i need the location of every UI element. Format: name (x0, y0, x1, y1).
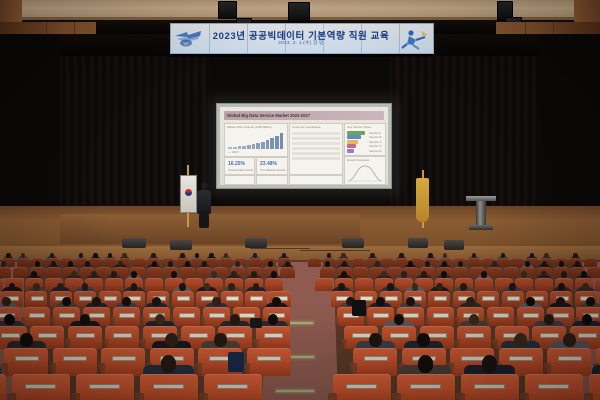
slide-bar-axis: — 2023 (228, 150, 258, 154)
presenter-body (197, 190, 211, 214)
seat-number-plate (523, 313, 539, 318)
stage-monitor-2 (170, 240, 192, 250)
seat-number-plate (1, 333, 20, 338)
attendee-head (369, 333, 382, 347)
attendee-head (575, 261, 580, 267)
seat-number-plate (364, 356, 388, 361)
eagle-emblem-icon: KR (173, 27, 203, 49)
attendee-head (6, 253, 10, 258)
seat-number-plate (63, 356, 87, 361)
stage-curtain-right (390, 56, 540, 231)
presenter-legs (199, 212, 209, 228)
attendee-head (342, 261, 347, 267)
seat-number-plate (346, 384, 377, 389)
seat-number-plate (29, 313, 45, 318)
attendee-head (253, 253, 257, 258)
seat-number-plate (153, 384, 184, 389)
attendee-head (412, 283, 419, 291)
seat-armrest (199, 393, 208, 400)
attendee-head (425, 261, 430, 267)
slide-bar (256, 143, 260, 149)
attendee-head (122, 297, 130, 307)
auditorium-seat[interactable] (17, 258, 30, 267)
attendee-head (501, 253, 505, 258)
seat-number-plate (410, 384, 441, 389)
attendee-head (387, 283, 394, 291)
slide-title: Global Big Data Service Market 2023-2027 (224, 111, 384, 120)
attendee-head (151, 253, 155, 258)
slide-bar (261, 142, 265, 149)
seat-number-plate (250, 296, 263, 301)
attendee-head (406, 297, 414, 307)
auditorium-seat[interactable] (468, 258, 481, 267)
seat-number-plate (112, 356, 136, 361)
attendee-head (180, 253, 184, 258)
attendee-head (235, 261, 240, 267)
auditorium-seat[interactable] (308, 258, 321, 267)
attendee-head (399, 253, 403, 258)
ceiling-speaker-3 (288, 2, 310, 22)
attendee-head (152, 261, 157, 267)
attendee-head (394, 314, 404, 326)
slide-kpi-right-label: YoY Market Growth (260, 168, 286, 172)
seat-number-plate (465, 333, 484, 338)
auditorium-seat[interactable] (101, 348, 145, 376)
seat-number-plate (25, 384, 56, 389)
attendee-head (481, 271, 487, 278)
attendee-head (338, 283, 345, 291)
attendee-head (341, 253, 345, 258)
seat-number-plate (38, 333, 57, 338)
slide-bar (242, 146, 246, 149)
attendee-head (442, 261, 447, 267)
attendee-head (436, 283, 443, 291)
slide-hbar-label: Vendor C (369, 140, 383, 144)
seat-number-plate (257, 356, 281, 361)
attendee-head (152, 297, 160, 307)
attendee-head (211, 271, 217, 278)
seat-number-plate (113, 333, 132, 338)
attendee-head (421, 271, 427, 278)
slide-panel-vendor-share: Key Vendor Share Vendor AVendor BVendor … (344, 123, 386, 156)
attendee-head (460, 283, 467, 291)
slide-panel-growth: Growth Forecast (344, 156, 386, 185)
attendee-head (230, 314, 240, 326)
attendee-head (212, 297, 220, 307)
attendee-head (558, 283, 565, 291)
attendee-head (525, 261, 530, 267)
seat-number-plate (59, 313, 75, 318)
attendee-head (131, 271, 137, 278)
auditorium-seat[interactable] (352, 258, 365, 267)
auditorium-seat[interactable] (547, 348, 591, 376)
slide-hbar (347, 149, 354, 153)
attendee-head (526, 297, 534, 307)
attendee-head (253, 283, 260, 291)
slide-bar (233, 147, 237, 149)
attendee-head (1, 261, 6, 267)
attendee-head (118, 261, 123, 267)
attendee-head (131, 283, 138, 291)
attendee-head (108, 253, 112, 258)
auditorium-seat[interactable] (453, 267, 468, 278)
attendee-head (492, 261, 497, 267)
auditorium-seat[interactable] (180, 267, 195, 278)
slide-kpi-left: 16.25% Incremental Growth (224, 157, 255, 175)
slide-hbar-label: Vendor E (369, 149, 383, 153)
slide-bar (275, 136, 279, 149)
seat-number-plate (89, 313, 105, 318)
taegukgi-flag (180, 175, 197, 213)
slide-hbar-chart: Vendor AVendor BVendor CVendor DVendor E (347, 131, 383, 153)
attendee-head (80, 314, 90, 326)
attendee-head (85, 261, 90, 267)
auditorium-seat[interactable] (595, 278, 600, 291)
projection-screen: Global Big Data Service Market 2023-2027… (216, 103, 392, 189)
auditorium-seat[interactable] (535, 278, 553, 291)
attendee-head (51, 261, 56, 267)
attendee-head (161, 355, 177, 373)
seat-number-plate (373, 313, 389, 318)
attendee-head (272, 297, 280, 307)
seat-armrest (335, 317, 340, 327)
attendee-head (195, 253, 199, 258)
seat-number-plate (15, 356, 39, 361)
seat-armrest (135, 393, 144, 400)
seat-number-plate (226, 333, 245, 338)
attendee-head (376, 297, 384, 307)
stage-cable-2 (300, 250, 370, 251)
lectern-column (476, 201, 486, 225)
attendee-head (268, 314, 278, 326)
seat-number-plate (507, 296, 520, 301)
slide-bar (252, 144, 256, 149)
slide-bar (280, 133, 284, 149)
slide-panel-regional (289, 175, 343, 185)
slide-panel-label-customer: Customer Landscape (292, 125, 340, 129)
seat-number-plate (79, 296, 92, 301)
attendee-head (209, 253, 213, 258)
seat-number-plate (119, 313, 135, 318)
attendee-head (92, 297, 100, 307)
auditorium-seat[interactable] (133, 258, 146, 267)
auditorium-seat[interactable] (145, 278, 163, 291)
attendee-head (381, 271, 387, 278)
seat-number-plate (89, 384, 120, 389)
attendee-head (20, 333, 33, 347)
auditorium-seat[interactable] (584, 258, 597, 267)
seat-number-plate (264, 333, 283, 338)
seat-armrest (584, 393, 593, 400)
attendee-head (443, 253, 447, 258)
seat-number-plate (189, 333, 208, 338)
attendee-head (530, 253, 534, 258)
institution-flag (416, 178, 429, 222)
attendee-head (21, 253, 25, 258)
attendee-head (4, 314, 14, 326)
attendee-head (228, 283, 235, 291)
auditorium-seat[interactable] (320, 267, 335, 278)
auditorium-seat[interactable] (105, 278, 123, 291)
auditorium-seat[interactable] (475, 278, 493, 291)
seat-number-plate (482, 296, 495, 301)
slide-panel-label-growth: Growth Forecast (347, 158, 383, 162)
attendee-head (428, 253, 432, 258)
attendee-head (282, 253, 286, 258)
lectern-base (469, 225, 493, 230)
stage-monitor-1 (122, 238, 146, 248)
attendee-bag (250, 318, 262, 328)
audience-seating (0, 258, 600, 400)
attendee-head (179, 283, 186, 291)
seat-armrest (71, 393, 80, 400)
stage-riser (60, 214, 360, 244)
auditorium-scene: KR 2023년 공공빅데이터 기본역량 직원 교육 2023. 2. 1.(수… (0, 0, 600, 400)
slide-hbar (347, 140, 358, 144)
presentation-slide: Global Big Data Service Market 2023-2027… (220, 107, 388, 185)
seat-number-plate (385, 296, 398, 301)
svg-text:KR: KR (184, 42, 189, 46)
seat-number-plate (31, 296, 44, 301)
attendee-head (31, 271, 37, 278)
ceiling-speaker-1 (218, 1, 237, 19)
seat-number-plate (538, 384, 569, 389)
seat-number-plate (209, 313, 225, 318)
attendee-head (122, 253, 126, 258)
attendee-head (111, 271, 117, 278)
auditorium-seat[interactable] (247, 348, 291, 376)
attendee-head (62, 297, 70, 307)
slide-bar (228, 147, 232, 149)
attendee-bag (228, 352, 244, 372)
attendee-head (93, 253, 97, 258)
attendee-head (573, 253, 577, 258)
auditorium-seat[interactable] (355, 278, 373, 291)
seat-number-plate (540, 333, 559, 338)
stage-monitor-3 (245, 238, 267, 248)
auditorium-seat[interactable] (315, 278, 333, 291)
attendee-head (370, 253, 374, 258)
auditorium-seat[interactable] (265, 278, 283, 291)
attendee-head (582, 314, 592, 326)
attendee-bag (352, 300, 366, 316)
attendee-head (271, 271, 277, 278)
attendee-head (224, 253, 228, 258)
attendee-head (325, 261, 330, 267)
seat-armrest (520, 393, 529, 400)
seat-number-plate (553, 313, 569, 318)
slide-bar (266, 140, 270, 149)
running-figure-logo-icon (397, 28, 431, 50)
presenter-head (201, 182, 208, 190)
seat-number-plate (177, 296, 190, 301)
attendee-head (9, 283, 16, 291)
seat-number-plate (509, 356, 533, 361)
seat-armrest (7, 393, 16, 400)
auditorium-seat[interactable] (13, 267, 28, 278)
attendee-head (202, 261, 207, 267)
attendee-head (559, 261, 564, 267)
attendee-head (185, 261, 190, 267)
seat-armrest (328, 393, 337, 400)
seat-armrest (342, 339, 347, 351)
auditorium-seat[interactable] (353, 267, 368, 278)
seat-number-plate (239, 313, 255, 318)
attendee-head (408, 261, 413, 267)
event-banner: KR 2023년 공공빅데이터 기본역량 직원 교육 2023. 2. 1.(수… (170, 23, 434, 54)
attendee-head (401, 271, 407, 278)
slide-panel-label-market: Market Size Outlook (USD Billion) (227, 125, 285, 129)
seat-number-plate (403, 313, 419, 318)
auditorium-seat[interactable] (220, 258, 233, 267)
slide-bar (270, 138, 274, 149)
slide-panel-customer: Customer Landscape (289, 123, 343, 175)
auditorium-seat[interactable] (0, 374, 6, 400)
seat-number-plate (226, 296, 239, 301)
banner-subtitle: 2023. 2. 1.(수) 강 당 (205, 40, 397, 46)
attendee-head (514, 333, 527, 347)
seat-number-plate (390, 333, 409, 338)
seat-number-plate (558, 356, 582, 361)
attendee-head (482, 355, 498, 373)
attendee-head (561, 271, 567, 278)
auditorium-seat[interactable] (0, 267, 11, 278)
attendee-head (204, 283, 211, 291)
auditorium-seat[interactable] (280, 267, 295, 278)
slide-kpi-left-label: Incremental Growth (228, 168, 253, 172)
attendee-head (91, 271, 97, 278)
seat-armrest (456, 393, 465, 400)
attendee-head (2, 297, 10, 307)
slide-kpi-left-value: 16.25% (228, 161, 245, 167)
seat-number-plate (578, 333, 597, 338)
stage-monitor-6 (444, 240, 464, 250)
attendee-head (168, 261, 173, 267)
seat-number-plate (461, 356, 485, 361)
stage-cable-1 (250, 248, 310, 249)
slide-bar-chart (228, 132, 284, 149)
attendee-head (327, 253, 331, 258)
seat-number-plate (493, 313, 509, 318)
attendee-head (71, 271, 77, 278)
auditorium-seat[interactable] (249, 258, 262, 267)
attendee-head (556, 297, 564, 307)
auditorium-seat[interactable] (53, 348, 97, 376)
attendee-head (375, 261, 380, 267)
attendee-head (82, 283, 89, 291)
attendee-head (417, 333, 430, 347)
auditorium-seat[interactable] (353, 348, 397, 376)
slide-hbar-label: Vendor B (369, 135, 383, 139)
attendee-head (469, 314, 479, 326)
attendee-head (171, 271, 177, 278)
attendee-head (285, 261, 290, 267)
slide-kpi-right: 23.48% YoY Market Growth (256, 157, 288, 175)
slide-hbar-label: Vendor A (369, 131, 383, 135)
slide-kpi-right-value: 23.48% (260, 161, 277, 167)
seat-number-plate (474, 384, 505, 389)
attendee-head (57, 283, 64, 291)
stage-monitor-5 (408, 238, 428, 248)
attendee-head (563, 333, 576, 347)
seat-number-plate (179, 313, 195, 318)
slide-hbar-label: Vendor D (369, 144, 383, 148)
attendee-head (541, 271, 547, 278)
seat-armrest (392, 393, 401, 400)
attendee-head (68, 261, 73, 267)
attendee-head (509, 283, 516, 291)
seat-number-plate (217, 384, 248, 389)
attendee-head (35, 261, 40, 267)
attendee-head (79, 253, 83, 258)
attendee-head (521, 271, 527, 278)
auditorium-seat[interactable] (46, 267, 61, 278)
attendee-head (472, 253, 476, 258)
slide-bar (247, 145, 251, 149)
slide-panel-market-size: Market Size Outlook (USD Billion) — 2023 (224, 123, 288, 157)
slide-bar (238, 146, 242, 149)
attendee-head (251, 271, 257, 278)
attendee-head (542, 261, 547, 267)
stage-monitor-4 (342, 238, 364, 248)
attendee-head (582, 283, 589, 291)
slide-hbar (347, 135, 361, 139)
attendee-head (586, 297, 594, 307)
seat-number-plate (434, 296, 447, 301)
slide-growth-curve (347, 164, 383, 182)
auditorium-seat[interactable] (4, 348, 48, 376)
attendee-head (341, 271, 347, 278)
seat-number-plate (433, 313, 449, 318)
auditorium-seat[interactable] (147, 267, 162, 278)
attendee-head (466, 297, 474, 307)
seat-number-plate (428, 333, 447, 338)
seat-number-plate (104, 296, 117, 301)
attendee-head (33, 283, 40, 291)
attendee-head (50, 253, 54, 258)
attendee-head (441, 271, 447, 278)
slide-footer-right (256, 175, 288, 185)
attendee-head (165, 333, 178, 347)
attendee-head (418, 355, 434, 373)
slide-hbar (347, 131, 365, 135)
slide-footer-left (224, 175, 255, 185)
attendee-head (155, 314, 165, 326)
attendee-head (231, 271, 237, 278)
seat-number-plate (76, 333, 95, 338)
slide-hbar (347, 144, 356, 148)
attendee-head (544, 253, 548, 258)
slide-panel-label-vendor: Key Vendor Share (347, 125, 383, 129)
attendee-head (214, 333, 227, 347)
attendee-head (581, 271, 587, 278)
